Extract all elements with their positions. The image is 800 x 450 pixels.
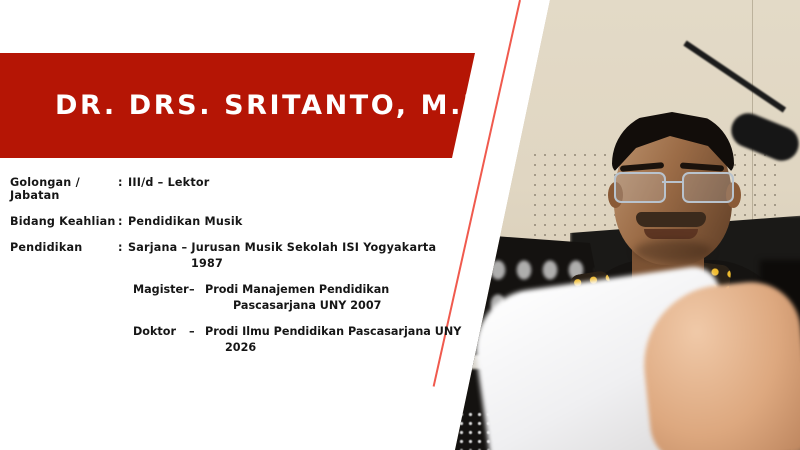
eyeglasses-icon bbox=[610, 172, 736, 200]
detail-separator: : bbox=[118, 215, 128, 228]
detail-value: Sarjana – Jurusan Musik Sekolah ISI Yogy… bbox=[128, 241, 470, 270]
photo-content bbox=[430, 0, 800, 450]
detail-row-bidang-keahlian: Bidang Keahlian : Pendidikan Musik bbox=[0, 215, 470, 228]
title-banner: DR. DRS. SRITANTO, M.PD. bbox=[0, 53, 475, 158]
detail-value: Pendidikan Musik bbox=[128, 215, 470, 228]
subject-mouth bbox=[644, 229, 698, 239]
education-detail: Prodi Manajemen Pendidikan Pascasarjana … bbox=[205, 283, 470, 312]
education-row-magister: Magister – Prodi Manajemen Pendidikan Pa… bbox=[0, 283, 470, 312]
profile-details: Golongan / Jabatan : III/d – Lektor Bida… bbox=[0, 176, 470, 367]
education-dash: – bbox=[189, 325, 205, 338]
education-row-doktor: Doktor – Prodi Ilmu Pendidikan Pascasarj… bbox=[0, 325, 470, 354]
eyeglass-lens bbox=[682, 172, 734, 203]
education-detail-line1: Prodi Ilmu Pendidikan Pascasarjana UNY bbox=[205, 325, 461, 338]
detail-row-pendidikan: Pendidikan : Sarjana – Jurusan Musik Sek… bbox=[0, 241, 470, 270]
page-title: DR. DRS. SRITANTO, M.PD. bbox=[0, 90, 523, 121]
detail-label: Pendidikan bbox=[0, 241, 118, 254]
education-degree: Magister bbox=[133, 283, 189, 296]
education-degree: Doktor bbox=[133, 325, 189, 338]
detail-label: Bidang Keahlian bbox=[0, 215, 118, 228]
detail-value-line1: Sarjana – Jurusan Musik Sekolah ISI Yogy… bbox=[128, 241, 436, 254]
detail-separator: : bbox=[118, 241, 128, 254]
detail-label: Golongan / Jabatan bbox=[0, 176, 118, 202]
eyeglass-bridge bbox=[662, 181, 682, 183]
education-detail-line2: 2026 bbox=[205, 341, 470, 354]
subject-mustache bbox=[636, 212, 706, 227]
education-detail: Prodi Ilmu Pendidikan Pascasarjana UNY 2… bbox=[205, 325, 470, 354]
slide-root: DR. DRS. SRITANTO, M.PD. Golongan / Jaba… bbox=[0, 0, 800, 450]
subject-chin-shadow bbox=[634, 240, 712, 262]
detail-value-year: 1987 bbox=[128, 257, 470, 270]
detail-value: III/d – Lektor bbox=[128, 176, 470, 189]
portrait-photo bbox=[430, 0, 800, 450]
wall-seam bbox=[477, 0, 478, 330]
education-detail-line2: Pascasarjana UNY 2007 bbox=[205, 299, 470, 312]
education-dash: – bbox=[189, 283, 205, 296]
detail-row-golongan-jabatan: Golongan / Jabatan : III/d – Lektor bbox=[0, 176, 470, 202]
eyeglass-lens bbox=[614, 172, 666, 203]
detail-separator: : bbox=[118, 176, 128, 189]
education-detail-line1: Prodi Manajemen Pendidikan bbox=[205, 283, 389, 296]
